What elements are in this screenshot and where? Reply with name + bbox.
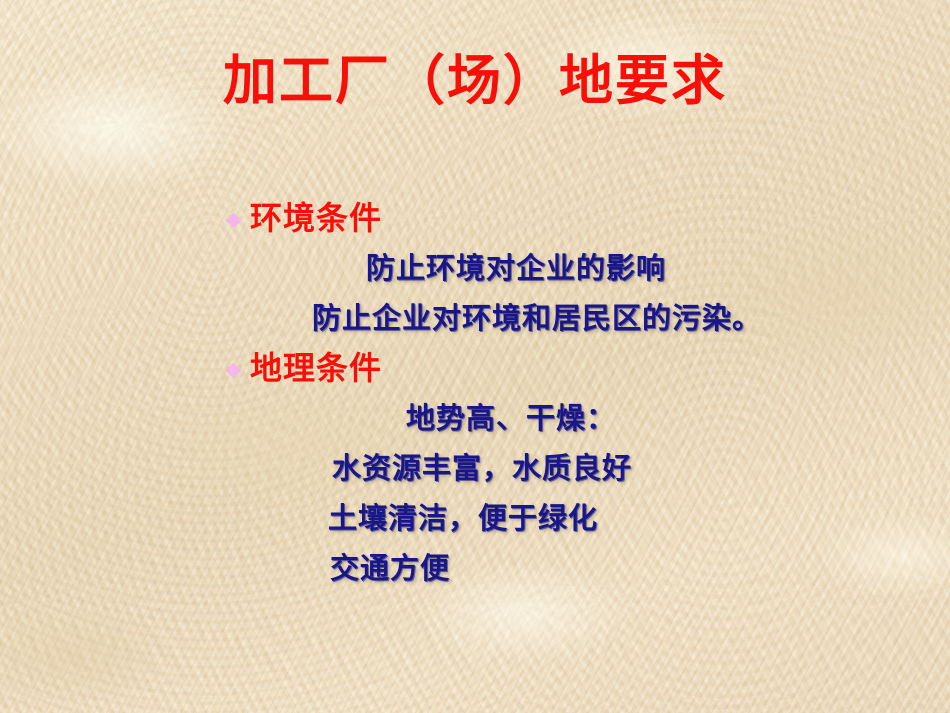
sub-line-geo-2: 水资源丰富，水质良好 [228, 443, 928, 493]
sub-line-geo-1: 地势高、干燥： [228, 393, 928, 443]
bullet-item-environment[interactable]: 环境条件 [228, 193, 928, 243]
diamond-bullet-icon [228, 211, 250, 226]
presentation-slide: 加工厂（场）地要求 环境条件 防止环境对企业的影响 防止企业对环境和居民区的污染… [0, 0, 950, 713]
sub-line-env-1: 防止环境对企业的影响 [228, 243, 928, 293]
sub-line-geo-4: 交通方便 [228, 543, 928, 593]
sub-line-env-2: 防止企业对环境和居民区的污染。 [228, 293, 928, 343]
bullet-item-geography[interactable]: 地理条件 [228, 343, 928, 393]
diamond-bullet-icon [228, 361, 250, 376]
bullet-heading-geography: 地理条件 [250, 348, 382, 388]
sub-line-geo-3: 土壤清洁，便于绿化 [228, 493, 928, 543]
bullet-heading-environment: 环境条件 [250, 198, 382, 238]
slide-body: 环境条件 防止环境对企业的影响 防止企业对环境和居民区的污染。 地理条件 地势高… [228, 193, 928, 593]
slide-title: 加工厂（场）地要求 [0, 48, 950, 114]
